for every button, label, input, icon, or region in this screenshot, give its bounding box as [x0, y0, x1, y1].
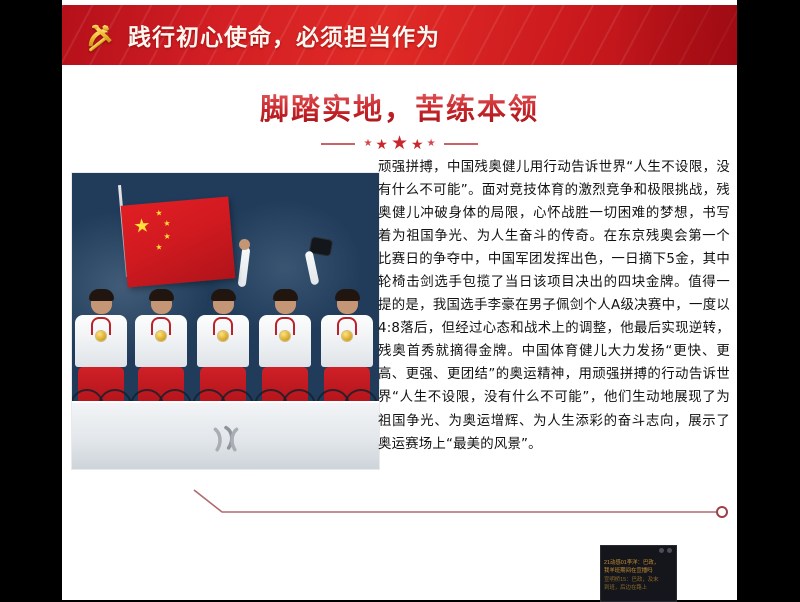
athlete-jacket	[321, 315, 373, 367]
athlete-jacket	[197, 315, 249, 367]
article-body: 顽强拼搏，中国残奥健儿用行动告诉世界“人生不设限，没有什么不可能”。面对竞技体育…	[378, 156, 730, 456]
overlay-close-icon[interactable]	[667, 548, 672, 553]
banner-title: 践行初心使命，必须担当作为	[128, 18, 440, 52]
gold-medal-icon	[280, 331, 290, 341]
raised-helmet-icon	[310, 237, 332, 255]
athlete-jacket	[75, 315, 127, 367]
stars-decoration: ★ ★ ★ ★ ★	[62, 134, 737, 153]
star-icon: ★	[427, 139, 436, 149]
athlete-jacket	[259, 315, 311, 367]
overlay-menu-icon[interactable]	[659, 548, 664, 553]
paralympic-podium-photo: ★ ★ ★ ★ ★	[71, 172, 380, 470]
decoration-rule-right	[444, 143, 478, 145]
star-icon: ★	[411, 137, 424, 151]
agitos-icon	[199, 425, 253, 455]
overlay-controls[interactable]	[659, 548, 672, 553]
flag-small-star: ★	[155, 243, 163, 252]
screen-root: 践行初心使命，必须担当作为 脚踏实地，苦练本领 ★ ★ ★ ★ ★	[0, 0, 800, 600]
gold-medal-icon	[156, 331, 166, 341]
flag-small-star: ★	[163, 220, 171, 229]
flag-small-star: ★	[163, 233, 171, 242]
athlete-figure	[258, 292, 312, 413]
athlete-head	[275, 292, 296, 314]
flag-small-star: ★	[155, 209, 163, 218]
athlete-head	[91, 292, 112, 314]
podium-platform	[72, 401, 379, 469]
presentation-slide: 践行初心使命，必须担当作为 脚踏实地，苦练本领 ★ ★ ★ ★ ★	[62, 0, 737, 600]
star-icon: ★	[375, 137, 388, 151]
decoration-rule-left	[321, 143, 355, 145]
overlay-message-list: 21动感01李洋：巴政， 我羊班期间在宣播吗 宣明桥15：巴政，及末 到班，后边…	[604, 559, 673, 593]
slide-heading-block: 脚踏实地，苦练本领 ★ ★ ★ ★ ★	[62, 86, 737, 153]
athlete-head	[213, 292, 234, 314]
livestream-chat-overlay[interactable]: 21动感01李洋：巴政， 我羊班期间在宣播吗 宣明桥15：巴政，及末 到班，后边…	[600, 545, 677, 602]
cpc-hammer-sickle-emblem-icon	[82, 17, 118, 53]
chinese-national-flag-icon: ★ ★ ★ ★ ★	[121, 196, 236, 287]
athlete-jacket	[135, 315, 187, 367]
raised-fist	[239, 239, 250, 250]
overlay-message: 21动感01李洋：巴政，	[604, 559, 673, 567]
overlay-message: 到班，后边在路上	[604, 584, 673, 592]
athlete-figure	[74, 292, 128, 413]
star-icon: ★	[363, 139, 372, 149]
gold-medal-icon	[342, 331, 352, 341]
athlete-figure	[320, 292, 374, 413]
page-title: 脚踏实地，苦练本领	[260, 86, 539, 128]
athlete-figure	[134, 292, 188, 413]
athlete-head	[151, 292, 172, 314]
slide-banner: 践行初心使命，必须担当作为	[62, 5, 737, 65]
gold-medal-icon	[96, 331, 106, 341]
decorative-pointer-line	[192, 488, 732, 520]
overlay-message: 宣明桥15：巴政，及末	[604, 576, 673, 584]
overlay-message: 我羊班期间在宣播吗	[604, 567, 673, 575]
gold-medal-icon	[218, 331, 228, 341]
athlete-head	[337, 292, 358, 314]
star-icon: ★	[391, 134, 408, 153]
flag-big-star: ★	[133, 216, 152, 236]
athlete-figure	[196, 292, 250, 413]
